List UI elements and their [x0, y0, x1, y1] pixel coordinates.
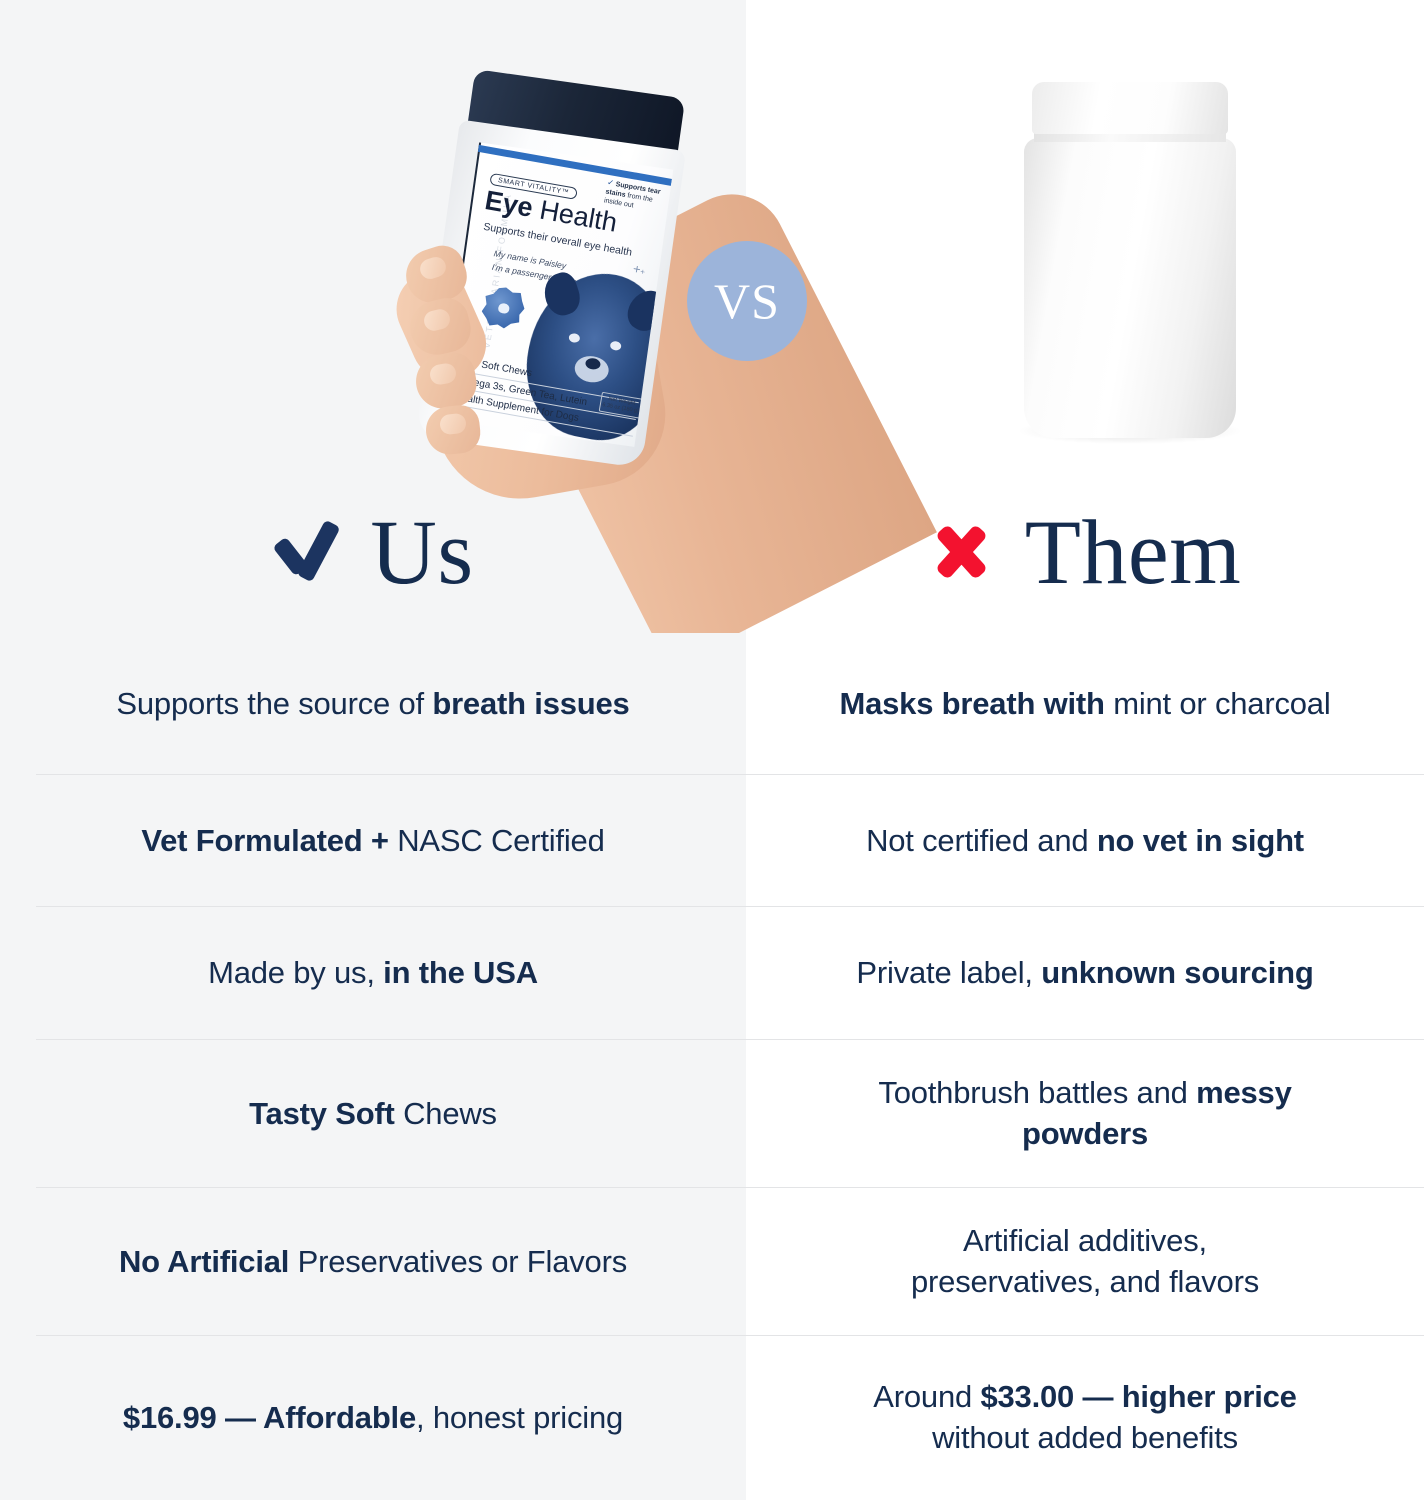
them-text-plain-2: without added benefits: [932, 1420, 1238, 1455]
us-text-plain-2: , honest pricing: [416, 1400, 623, 1435]
claim-check-icon: ✓: [606, 178, 614, 188]
cell-us: Tasty Soft Chews: [0, 1040, 746, 1188]
competitor-jar-lid: [1032, 82, 1228, 134]
them-text-plain-1: Not certified and: [866, 823, 1097, 858]
them-text-plain-2: mint or charcoal: [1105, 686, 1331, 721]
product-photo-competitor-jar: [1010, 82, 1250, 444]
hero-section: VETERINARIAN FORMULA SMART VITALITY™ Eye…: [0, 0, 1424, 633]
check-icon: [272, 522, 344, 582]
vs-badge-label: VS: [714, 272, 780, 330]
us-text-plain-2: Preservatives or Flavors: [289, 1244, 627, 1279]
us-text-bold: No Artificial: [119, 1244, 289, 1279]
column-header-us-label: Us: [370, 506, 473, 598]
comparison-page: VETERINARIAN FORMULA SMART VITALITY™ Eye…: [0, 0, 1424, 1500]
us-text-plain-1: Made by us,: [208, 955, 383, 990]
us-text-bold: $16.99 — Affordable: [123, 1400, 416, 1435]
us-text-plain-1: Supports the source of: [116, 686, 432, 721]
table-row: No Artificial Preservatives or Flavors A…: [0, 1188, 1424, 1336]
sparkle-icon: ++: [632, 261, 647, 278]
table-row: $16.99 — Affordable, honest pricing Arou…: [0, 1336, 1424, 1500]
cell-them: Private label, unknown sourcing: [746, 907, 1424, 1040]
cell-us: $16.99 — Affordable, honest pricing: [0, 1336, 746, 1500]
cell-them: Not certified and no vet in sight: [746, 775, 1424, 907]
us-text-plain-2: Chews: [395, 1096, 497, 1131]
us-text-bold: in the USA: [383, 955, 538, 990]
competitor-jar-body: [1024, 138, 1236, 438]
cell-them: Masks breath with mint or charcoal: [746, 633, 1424, 775]
jar-label: VETERINARIAN FORMULA SMART VITALITY™ Eye…: [440, 142, 673, 447]
them-text-plain-1: Around: [873, 1379, 980, 1414]
column-headers: Us Them: [0, 470, 1424, 633]
comparison-table: Supports the source of breath issues Mas…: [0, 633, 1424, 1500]
table-row: Supports the source of breath issues Mas…: [0, 633, 1424, 775]
cell-us: Made by us, in the USA: [0, 907, 746, 1040]
us-text-bold: Tasty Soft: [249, 1096, 395, 1131]
them-text-plain-1: Private label,: [856, 955, 1041, 990]
table-row: Vet Formulated + NASC Certified Not cert…: [0, 775, 1424, 907]
cell-us: No Artificial Preservatives or Flavors: [0, 1188, 746, 1336]
them-text-plain-1: Artificial additives, preservatives, and…: [911, 1223, 1259, 1299]
column-header-them: Them: [746, 470, 1424, 633]
them-text-plain-1: Toothbrush battles and: [878, 1075, 1196, 1110]
us-text-plain-2: NASC Certified: [389, 823, 605, 858]
column-header-us: Us: [0, 470, 746, 633]
them-text-bold: no vet in sight: [1097, 823, 1304, 858]
cell-us: Vet Formulated + NASC Certified: [0, 775, 746, 907]
cell-us: Supports the source of breath issues: [0, 633, 746, 775]
them-text-bold: unknown sourcing: [1041, 955, 1313, 990]
vs-badge: VS: [687, 241, 807, 361]
table-row: Made by us, in the USA Private label, un…: [0, 907, 1424, 1040]
chew-count-unit: Soft Chews: [481, 359, 533, 379]
us-text-bold: Vet Formulated +: [141, 823, 388, 858]
x-icon: [929, 521, 999, 583]
column-header-them-label: Them: [1025, 506, 1242, 598]
us-text-bold: breath issues: [432, 686, 629, 721]
cell-them: Artificial additives, preservatives, and…: [746, 1188, 1424, 1336]
them-text-bold: Masks breath with: [839, 686, 1104, 721]
cell-them: Toothbrush battles and messy powders: [746, 1040, 1424, 1188]
table-row: Tasty Soft Chews Toothbrush battles and …: [0, 1040, 1424, 1188]
them-text-bold: $33.00 — higher price: [980, 1379, 1296, 1414]
cell-them: Around $33.00 — higher price without add…: [746, 1336, 1424, 1500]
